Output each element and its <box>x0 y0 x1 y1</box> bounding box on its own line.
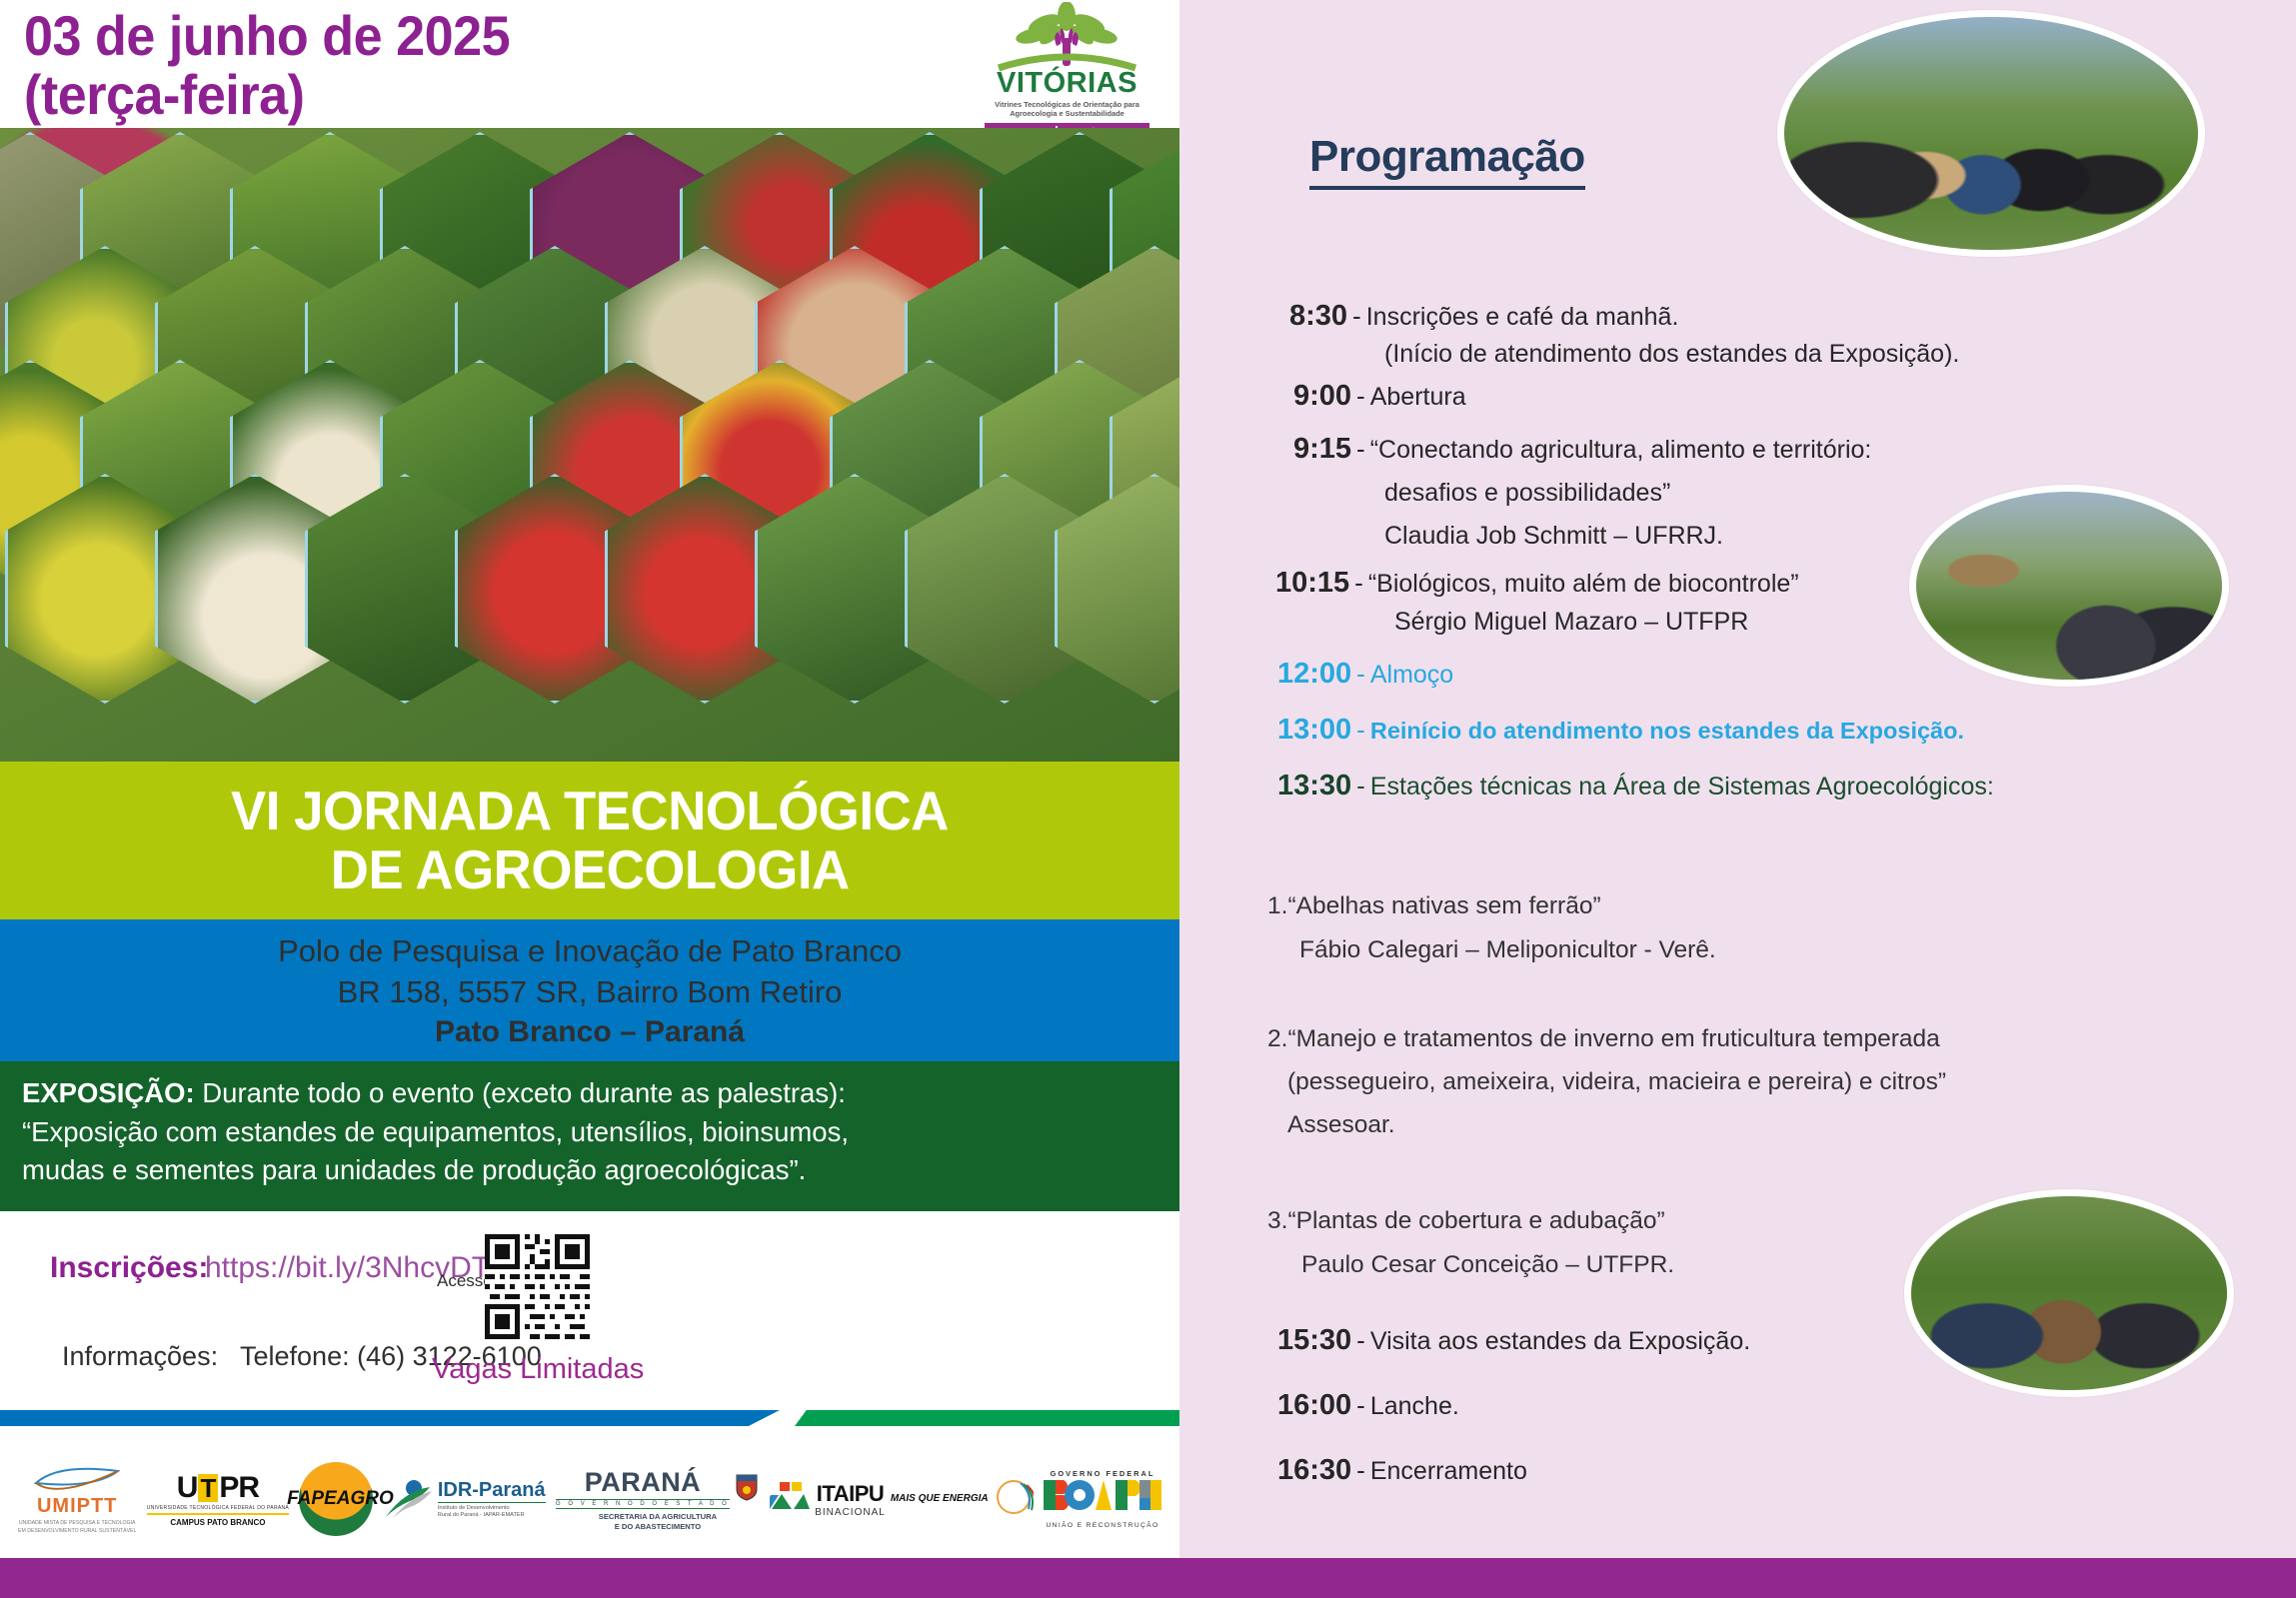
sponsor-logos: UMIPTT UNIDADE MISTA DE PESQUISA E TECNO… <box>0 1444 1179 1554</box>
vagas-limitadas-label: Vagas Limitadas <box>432 1353 644 1386</box>
idr-wordmark: IDR-Paraná <box>438 1479 546 1502</box>
station-speaker-line: Fábio Calegari – Meliponicultor - Verê. <box>1299 936 1716 964</box>
venue-address-banner: Polo de Pesquisa e Inovação de Pato Bran… <box>0 919 1179 1061</box>
exposition-line2: “Exposição com estandes de equipamentos,… <box>22 1113 1157 1152</box>
schedule-row: 16:00-Lanche. <box>1277 1389 1459 1422</box>
schedule-dash: - <box>1351 1325 1370 1355</box>
exposition-line1-rest: Durante todo o evento (exceto durante as… <box>195 1077 846 1108</box>
schedule-dash: - <box>1351 771 1370 800</box>
idr-sub1: Instituto de Desenvolvimento <box>438 1505 546 1512</box>
schedule-row: 9:00-Abertura <box>1293 380 1466 413</box>
schedule-desc: Abertura <box>1370 383 1466 411</box>
station-item: 1.“Abelhas nativas sem ferrão” <box>1267 892 1601 920</box>
logo-idr-parana: IDR-Paraná Instituto de Desenvolvimento … <box>384 1477 546 1521</box>
schedule-row: 12:00-Almoço <box>1277 658 1453 691</box>
parana-sub1: SECRETARIA DA AGRICULTURA <box>556 1512 760 1522</box>
itaipu-wordmark: ITAIPU <box>815 1481 886 1507</box>
schedule-time: 10:15 <box>1275 567 1349 599</box>
logo-parana: PARANÁ G O V E R N O D O E S T A D O SEC… <box>556 1467 760 1532</box>
event-date-line1: 03 de junho de 2025 <box>24 6 731 65</box>
logo-fapeagro: FAPEAGRO <box>299 1462 373 1536</box>
itaipu-mark-icon <box>770 1481 810 1518</box>
idr-sub2: Rural do Paraná - IAPAR-EMATER <box>438 1512 546 1519</box>
hexagon-photo-collage <box>0 128 1179 764</box>
exposition-label: EXPOSIÇÃO: <box>22 1077 195 1108</box>
station-speaker: Assesoar. <box>1287 1111 1395 1138</box>
schedule-row-cont: Sérgio Miguel Mazaro – UTFPR <box>1394 608 1748 637</box>
schedule-row: 13:00-Reinício do atendimento nos estand… <box>1277 714 1964 747</box>
station-num: 1. <box>1267 892 1287 919</box>
parana-wordmark: PARANÁ <box>556 1467 730 1498</box>
schedule-time: 8:30 <box>1289 300 1347 332</box>
schedule-dash: - <box>1351 1455 1370 1485</box>
schedule-dash: - <box>1351 434 1370 464</box>
event-title-banner: VI JORNADA TECNOLÓGICA DE AGROECOLOGIA <box>0 762 1179 919</box>
schedule-list: 8:30-Inscrições e café da manhã. (Início… <box>1179 0 2296 1598</box>
event-title-line1: VI JORNADA TECNOLÓGICA <box>231 782 949 840</box>
schedule-row-cont2: Claudia Job Schmitt – UFRRJ. <box>1384 522 1723 551</box>
vitorias-subtitle-1: Vitrines Tecnológicas de Orientação para <box>985 100 1149 109</box>
schedule-dash: - <box>1347 301 1366 331</box>
right-panel: Programação 8:30-Inscrições e café da ma… <box>1179 0 2296 1598</box>
divider-stripe-green <box>795 1410 1186 1426</box>
logo-itaipu: ITAIPU BINACIONAL MAIS QUE ENERGIA <box>770 1477 1033 1522</box>
station-title: “Plantas de cobertura e adubação” <box>1287 1207 1664 1234</box>
schedule-time: 12:00 <box>1277 658 1351 690</box>
inscricoes-label: Inscrições: <box>50 1251 208 1285</box>
logo-governo-federal: GOVERNO FEDERAL <box>1044 1469 1161 1529</box>
station-title: “Manejo e tratamentos de inverno em frut… <box>1287 1025 1939 1052</box>
schedule-time: 16:00 <box>1277 1389 1351 1421</box>
bottom-accent-bar <box>0 1558 2296 1598</box>
poster-root: 03 de junho de 2025 (terça-feira) <box>0 0 2296 1598</box>
umiptt-wordmark: UMIPTT <box>18 1495 136 1518</box>
station-item: 3.“Plantas de cobertura e adubação” <box>1267 1207 1665 1235</box>
station-item: 2.“Manejo e tratamentos de inverno em fr… <box>1267 1025 1940 1053</box>
schedule-time: 13:00 <box>1277 714 1351 746</box>
station-speaker-line: Assesoar. <box>1287 1111 1395 1139</box>
schedule-row: 16:30-Encerramento <box>1277 1454 1527 1487</box>
exposition-banner: EXPOSIÇÃO: Durante todo o evento (exceto… <box>0 1061 1179 1211</box>
schedule-desc: Estações técnicas na Área de Sistemas Ag… <box>1370 773 1994 800</box>
venue-line2: BR 158, 5557 SR, Bairro Bom Retiro <box>338 972 843 1012</box>
station-speaker: Paulo Cesar Conceição – UTFPR. <box>1301 1251 1674 1278</box>
event-title-line2: DE AGROECOLOGIA <box>331 840 850 899</box>
schedule-cont: desafios e possibilidades” <box>1384 479 1670 507</box>
left-panel: 03 de junho de 2025 (terça-feira) <box>0 0 1179 1598</box>
station-num: 3. <box>1267 1207 1287 1234</box>
station-speaker: Fábio Calegari – Meliponicultor - Verê. <box>1299 936 1716 963</box>
event-date-line2: (terça-feira) <box>24 65 731 124</box>
umiptt-sub2: EM DESENVOLVIMENTO RURAL SUSTENTÁVEL <box>18 1528 136 1535</box>
schedule-desc: Visita aos estandes da Exposição. <box>1370 1327 1750 1355</box>
station-line2: (pessegueiro, ameixeira, videira, maciei… <box>1287 1068 1946 1096</box>
schedule-dash: - <box>1351 659 1370 689</box>
schedule-cont: (Início de atendimento dos estandes da E… <box>1384 340 1959 368</box>
brasil-top-label: GOVERNO FEDERAL <box>1044 1469 1161 1478</box>
event-date: 03 de junho de 2025 (terça-feira) <box>24 6 731 125</box>
schedule-desc: “Biológicos, muito além de biocontrole” <box>1368 570 1799 598</box>
schedule-row: 8:30-Inscrições e café da manhã. <box>1289 300 1678 333</box>
schedule-time: 9:00 <box>1293 380 1351 412</box>
informacoes-label: Informações: <box>62 1341 218 1372</box>
umiptt-sub1: UNIDADE MISTA DE PESQUISA E TECNOLOGIA <box>18 1520 136 1527</box>
vitorias-wordmark: VITÓRIAS <box>985 69 1149 98</box>
vitorias-subtitle-2: Agroecologia e Sustentabilidade <box>985 109 1149 118</box>
registration-area: Inscrições: https://bit.ly/3NhcvDT Infor… <box>0 1211 1179 1401</box>
itaipu-sub1: BINACIONAL <box>815 1507 886 1518</box>
schedule-row: 13:30-Estações técnicas na Área de Siste… <box>1277 770 1994 802</box>
schedule-dash: - <box>1351 381 1370 411</box>
fapeagro-emblem-icon: FAPEAGRO <box>299 1462 373 1536</box>
schedule-dash: - <box>1351 1390 1370 1420</box>
utfpr-campus: CAMPUS PATO BRANCO <box>147 1518 289 1527</box>
schedule-row: 9:15-“Conectando agricultura, alimento e… <box>1293 433 1871 466</box>
schedule-time: 16:30 <box>1277 1454 1351 1486</box>
parana-coat-of-arms-icon <box>734 1469 760 1506</box>
idr-swoosh-icon <box>384 1477 432 1521</box>
schedule-row-cont: desafios e possibilidades” <box>1384 479 1670 508</box>
schedule-row: 10:15-“Biológicos, muito além de biocont… <box>1275 567 1799 600</box>
parana-kicker: G O V E R N O D O E S T A D O <box>556 1499 730 1509</box>
schedule-dash: - <box>1351 715 1370 745</box>
station-title: “Abelhas nativas sem ferrão” <box>1287 892 1600 919</box>
schedule-cont2: Claudia Job Schmitt – UFRRJ. <box>1384 522 1723 550</box>
station-speaker-line: Paulo Cesar Conceição – UTFPR. <box>1301 1251 1674 1279</box>
schedule-time: 15:30 <box>1277 1324 1351 1356</box>
schedule-time: 9:15 <box>1293 433 1351 465</box>
plant-icon <box>985 2 1149 72</box>
divider-stripe-blue <box>0 1410 780 1426</box>
logo-umiptt: UMIPTT UNIDADE MISTA DE PESQUISA E TECNO… <box>18 1463 136 1534</box>
itaipu-energy-ring-icon <box>994 1477 1034 1522</box>
station-num: 2. <box>1267 1025 1287 1052</box>
qr-code-icon[interactable] <box>485 1234 590 1339</box>
schedule-row-cont: (Início de atendimento dos estandes da E… <box>1384 340 1959 369</box>
venue-line1: Polo de Pesquisa e Inovação de Pato Bran… <box>278 931 902 971</box>
schedule-desc: Lanche. <box>1370 1392 1459 1420</box>
schedule-dash: - <box>1349 568 1368 598</box>
schedule-cont: Sérgio Miguel Mazaro – UTFPR <box>1394 608 1748 636</box>
venue-line3: Pato Branco – Paraná <box>435 1012 745 1051</box>
station-title-line2: (pessegueiro, ameixeira, videira, maciei… <box>1287 1068 1946 1095</box>
exposition-line3: mudas e sementes para unidades de produç… <box>22 1151 1157 1190</box>
schedule-desc: Reinício do atendimento nos estandes da … <box>1370 718 1964 744</box>
schedule-time: 13:30 <box>1277 770 1351 801</box>
parana-sub2: E DO ABASTECIMENTO <box>556 1522 760 1532</box>
itaipu-tagline: MAIS QUE ENERGIA <box>891 1493 989 1505</box>
schedule-desc: Encerramento <box>1370 1457 1527 1485</box>
schedule-row: 15:30-Visita aos estandes da Exposição. <box>1277 1324 1750 1357</box>
umiptt-leaf-icon <box>32 1463 122 1493</box>
schedule-desc: Inscrições e café da manhã. <box>1366 303 1679 331</box>
schedule-desc: Almoço <box>1370 661 1453 689</box>
schedule-desc: “Conectando agricultura, alimento e terr… <box>1370 436 1872 464</box>
exposition-line1: EXPOSIÇÃO: Durante todo o evento (exceto… <box>22 1074 1157 1113</box>
brasil-bottom-label: UNIÃO E RECONSTRUÇÃO <box>1044 1522 1161 1529</box>
brasil-wordmark <box>1044 1478 1161 1520</box>
